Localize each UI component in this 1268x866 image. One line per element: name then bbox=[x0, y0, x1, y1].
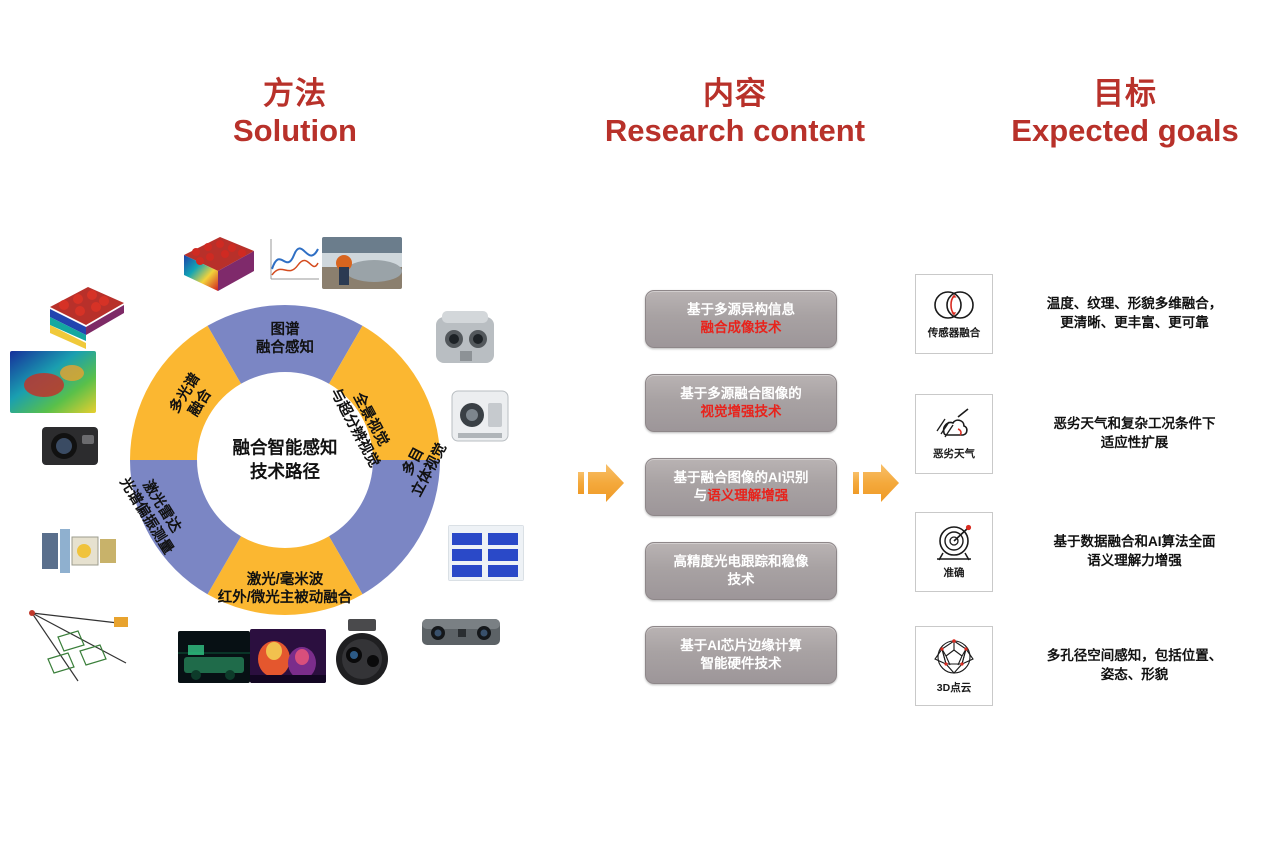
research-box-4-line1: 高精度光电跟踪和稳像 bbox=[674, 553, 809, 571]
thumbnail-ir-colormap-scene bbox=[250, 629, 326, 683]
research-box-2-line1: 基于多源融合图像的 bbox=[680, 385, 802, 403]
goal-icon-box-3: 准确 bbox=[915, 512, 993, 592]
thumbnail-spectral-layers bbox=[46, 279, 128, 349]
research-box-2-line2: 视觉增强技术 bbox=[701, 404, 782, 419]
thumbnail-optics-schematic bbox=[18, 593, 148, 689]
goal-row-sensor-fusion: 传感器融合 温度、纹理、形貌多维融合， 更清晰、更丰富、更可靠 bbox=[915, 268, 1260, 360]
thumbnail-hyperspectral-cube-top bbox=[180, 233, 258, 295]
research-box-3[interactable]: 基于融合图像的AI识别 与语义理解增强 bbox=[645, 458, 837, 516]
goal-icon-caption-4: 3D点云 bbox=[937, 680, 971, 695]
research-box-2[interactable]: 基于多源融合图像的 视觉增强技术 bbox=[645, 374, 837, 432]
research-box-3-line1: 基于融合图像的AI识别 bbox=[674, 469, 809, 487]
thumbnail-optical-module bbox=[32, 521, 124, 581]
research-title-en: Research content bbox=[570, 113, 900, 150]
thumbnail-scanner-instrument bbox=[448, 385, 512, 447]
thumbnail-night-vision-scene bbox=[178, 631, 250, 683]
page-title-research: 内容 Research content bbox=[570, 76, 900, 149]
target-accuracy-icon bbox=[933, 524, 975, 562]
thumbnail-gimbal-turret bbox=[326, 617, 398, 689]
goal-icon-caption-3: 准确 bbox=[944, 565, 965, 580]
bad-weather-icon bbox=[932, 407, 976, 443]
goal-icon-caption-1: 传感器融合 bbox=[928, 325, 981, 340]
goal-text-4-line2: 姿态、形貌 bbox=[1009, 666, 1260, 685]
wheel-center-label: 融合智能感知 技术路径 bbox=[233, 436, 338, 483]
goal-text-4: 多孔径空间感知，包括位置、 姿态、形貌 bbox=[993, 647, 1260, 685]
goal-icon-box-2: 恶劣天气 bbox=[915, 394, 993, 474]
goal-text-3: 基于数据融合和AI算法全面 语义理解力增强 bbox=[993, 533, 1260, 571]
solution-wheel-diagram: 图谱 融合感知 全景视觉 与超分辨视觉 多目 立体视觉 激光/毫米波 红外/微光… bbox=[10, 225, 570, 705]
goal-row-point-cloud: 3D点云 多孔径空间感知，包括位置、 姿态、形貌 bbox=[915, 620, 1260, 712]
research-box-3-line2-prefix: 与 bbox=[694, 488, 708, 503]
thumbnail-blue-scan-surface bbox=[448, 525, 524, 581]
point-cloud-icon bbox=[933, 637, 975, 677]
page-title-solution: 方法 Solution bbox=[130, 76, 460, 149]
arrow-solution-to-research bbox=[578, 462, 624, 504]
research-box-5-line2: 智能硬件技术 bbox=[680, 655, 802, 673]
goal-icon-box-4: 3D点云 bbox=[915, 626, 993, 706]
solution-title-en: Solution bbox=[130, 113, 460, 150]
goals-title-en: Expected goals bbox=[1000, 113, 1250, 150]
thumbnail-multi-lens-sensor-head bbox=[430, 309, 502, 371]
goal-text-1: 温度、纹理、形貌多维融合， 更清晰、更丰富、更可靠 bbox=[993, 295, 1260, 333]
goal-text-2-line1: 恶劣天气和复杂工况条件下 bbox=[1009, 415, 1260, 434]
goal-text-2-line2: 适应性扩展 bbox=[1009, 434, 1260, 453]
thumbnail-pipeline-photo bbox=[322, 237, 402, 289]
research-box-1[interactable]: 基于多源异构信息 融合成像技术 bbox=[645, 290, 837, 348]
solution-title-cn: 方法 bbox=[130, 76, 460, 113]
thumbnail-camera-device bbox=[40, 421, 102, 469]
goal-icon-box-1: 传感器融合 bbox=[915, 274, 993, 354]
wheel-ring: 图谱 融合感知 全景视觉 与超分辨视觉 多目 立体视觉 激光/毫米波 红外/微光… bbox=[130, 305, 440, 615]
goals-title-cn: 目标 bbox=[1000, 76, 1250, 113]
goal-row-accuracy: 准确 基于数据融合和AI算法全面 语义理解力增强 bbox=[915, 506, 1260, 598]
goal-text-3-line1: 基于数据融合和AI算法全面 bbox=[1009, 533, 1260, 552]
research-box-4[interactable]: 高精度光电跟踪和稳像 技术 bbox=[645, 542, 837, 600]
goal-text-2: 恶劣天气和复杂工况条件下 适应性扩展 bbox=[993, 415, 1260, 453]
goal-text-1-line1: 温度、纹理、形貌多维融合， bbox=[1009, 295, 1260, 314]
research-title-cn: 内容 bbox=[570, 76, 900, 113]
research-box-3-line2: 语义理解增强 bbox=[707, 488, 788, 503]
goal-row-bad-weather: 恶劣天气 恶劣天气和复杂工况条件下 适应性扩展 bbox=[915, 388, 1260, 480]
research-box-5[interactable]: 基于AI芯片边缘计算 智能硬件技术 bbox=[645, 626, 837, 684]
research-box-5-line1: 基于AI芯片边缘计算 bbox=[680, 637, 802, 655]
thumbnail-spectrum-plot bbox=[268, 235, 322, 283]
goal-icon-caption-2: 恶劣天气 bbox=[933, 446, 975, 461]
arrow-research-to-goals bbox=[853, 462, 899, 504]
sensor-fusion-icon bbox=[931, 288, 977, 322]
page-title-goals: 目标 Expected goals bbox=[1000, 76, 1250, 149]
goal-text-4-line1: 多孔径空间感知，包括位置、 bbox=[1009, 647, 1260, 666]
research-box-1-line2: 融合成像技术 bbox=[701, 320, 782, 335]
goal-text-3-line2: 语义理解力增强 bbox=[1009, 552, 1260, 571]
research-box-1-line1: 基于多源异构信息 bbox=[687, 301, 795, 319]
research-box-4-line2: 技术 bbox=[674, 571, 809, 589]
thumbnail-thermal-image bbox=[10, 351, 96, 413]
goal-text-1-line2: 更清晰、更丰富、更可靠 bbox=[1009, 314, 1260, 333]
